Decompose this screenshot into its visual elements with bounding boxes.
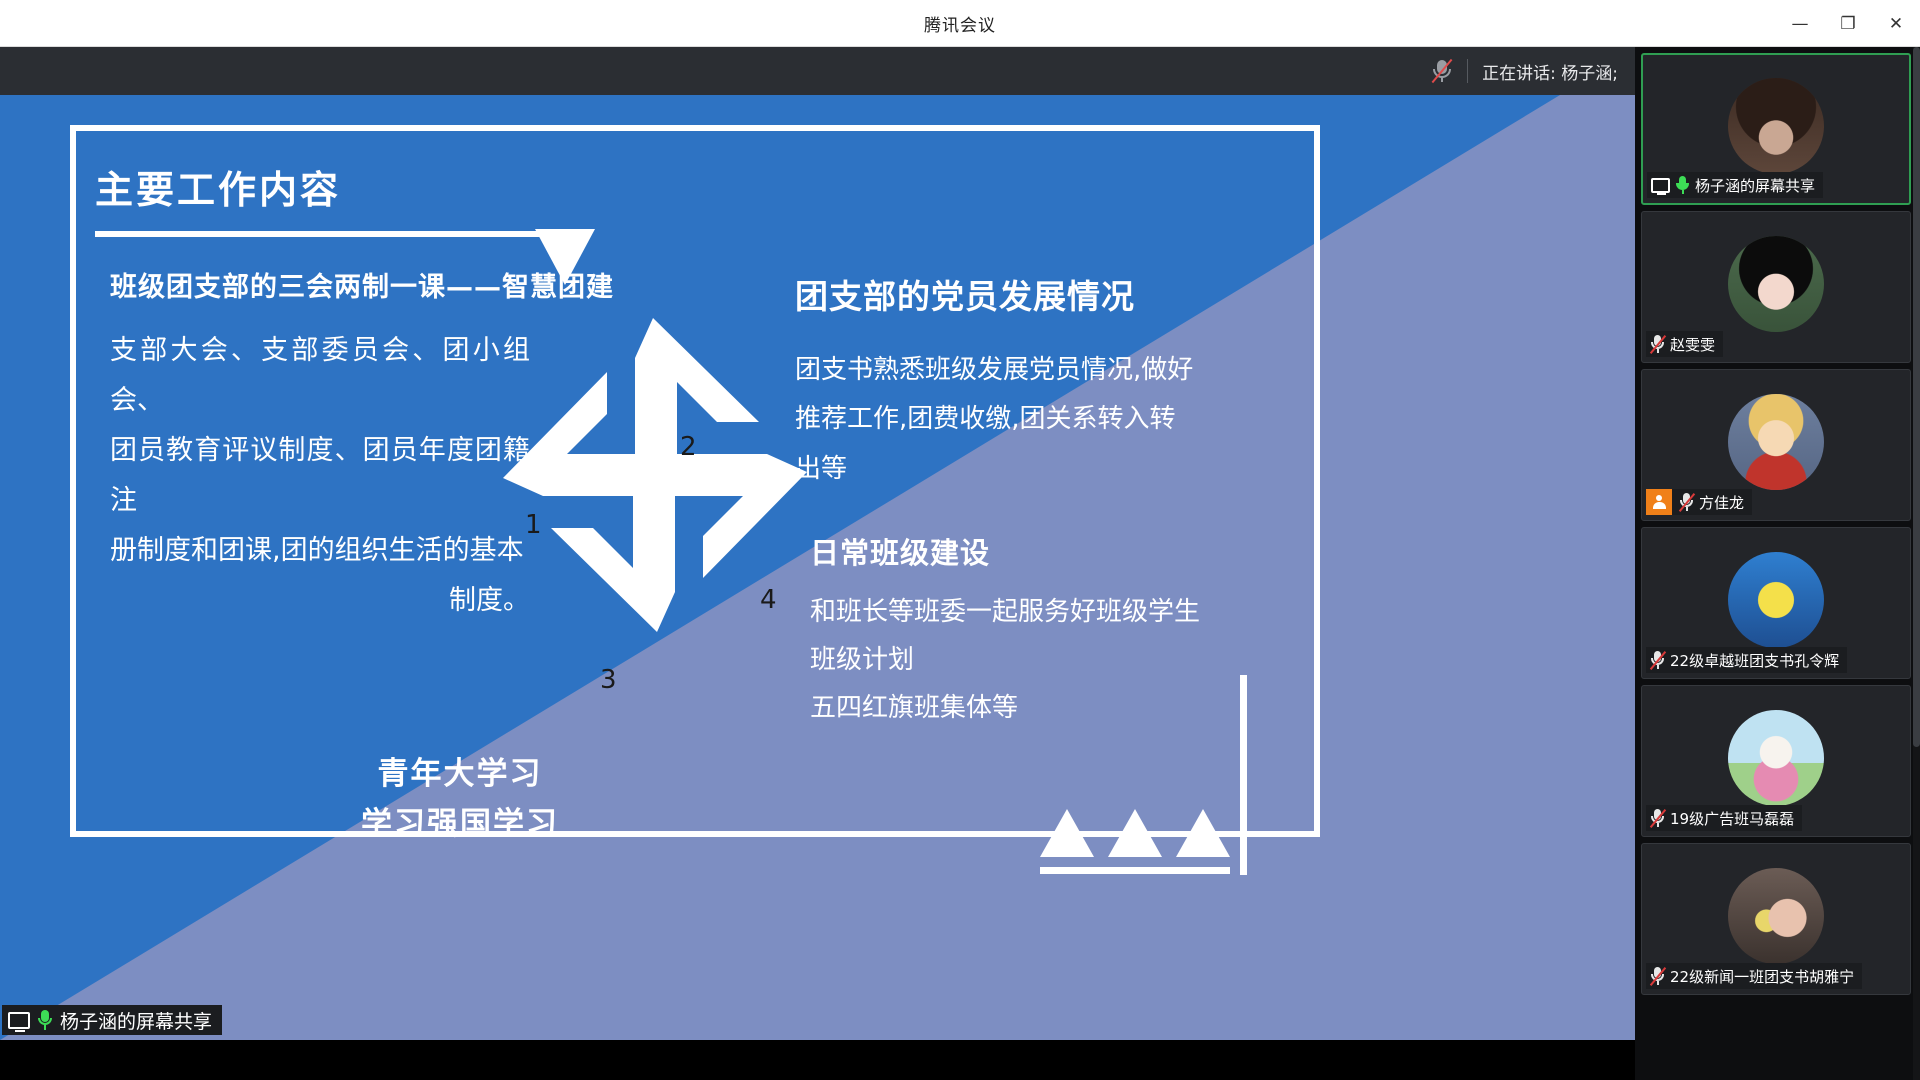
rail-scrollbar-thumb[interactable] xyxy=(1913,47,1920,747)
left-body-line-3: 册制度和团课,团的组织生活的基本 xyxy=(110,535,524,566)
avatar xyxy=(1728,710,1824,806)
left-body: 支部大会、支部委员会、团小组会、 团员教育评议制度、团员年度团籍注 册制度和团课… xyxy=(110,326,530,626)
pinwheel-number-3: 3 xyxy=(600,665,617,695)
right-bottom-heading: 日常班级建设 xyxy=(810,530,1230,572)
mic-muted-icon xyxy=(1650,651,1665,670)
left-body-line-1: 支部大会、支部委员会、团小组会、 xyxy=(110,335,530,416)
participant-name-bar: 赵雯雯 xyxy=(1646,331,1723,357)
avatar xyxy=(1728,394,1824,490)
avatar xyxy=(1728,78,1824,174)
page-title: 主要工作内容 xyxy=(95,167,585,215)
mic-muted-icon xyxy=(1650,809,1665,828)
shared-screen-area[interactable]: 主要工作内容 班级团支部的三会两制一课——智慧团建 支部大会、支部委员会、团小组… xyxy=(0,95,1635,1040)
left-bottom-block: 青年大学习 学习强国学习 xyxy=(245,750,675,849)
left-content-block: 班级团支部的三会两制一课——智慧团建 支部大会、支部委员会、团小组会、 团员教育… xyxy=(110,265,530,626)
speaking-indicator: 正在讲话: 杨子涵; xyxy=(1431,47,1622,95)
left-bottom-line-1: 青年大学习 xyxy=(245,750,675,800)
rail-scrollbar-track[interactable] xyxy=(1913,47,1920,1080)
triangle-decoration-group xyxy=(1040,809,1230,861)
participant-name-bar: 杨子涵的屏幕共享 xyxy=(1647,172,1823,198)
pinwheel-number-1: 1 xyxy=(525,510,542,540)
screen-share-icon xyxy=(8,1012,30,1029)
pinwheel-diagram: 1 2 3 4 xyxy=(495,310,815,640)
mic-muted-icon xyxy=(1431,58,1453,84)
screen-share-label: 杨子涵的屏幕共享 xyxy=(60,1007,212,1034)
avatar xyxy=(1728,868,1824,964)
slide-heading-block: 主要工作内容 xyxy=(95,167,585,237)
mic-muted-icon xyxy=(1650,967,1665,986)
left-subheading: 班级团支部的三会两制一课——智慧团建 xyxy=(110,265,530,304)
participant-tile[interactable]: 赵雯雯 xyxy=(1641,211,1911,363)
participant-tile[interactable]: 22级卓越班团支书孔令辉 xyxy=(1641,527,1911,679)
left-body-line-2: 团员教育评议制度、团员年度团籍注 xyxy=(110,435,530,516)
triangle-up-icon xyxy=(1176,809,1230,857)
mic-on-icon xyxy=(37,1010,53,1031)
right-top-body: 团支书熟悉班级发展党员情况,做好 推荐工作,团费收缴,团关系转入转 出等 xyxy=(795,346,1235,494)
screen-share-icon xyxy=(1651,178,1670,193)
right-bottom-block: 日常班级建设 和班长等班委一起服务好班级学生 班级计划 五四红旗班集体等 xyxy=(810,530,1230,732)
participant-name: 22级卓越班团支书孔令辉 xyxy=(1670,650,1839,671)
right-top-line-1: 团支书熟悉班级发展党员情况,做好 xyxy=(795,355,1193,385)
participant-name-bar: 19级广告班马磊磊 xyxy=(1646,805,1802,831)
participant-rail[interactable]: 杨子涵的屏幕共享赵雯雯方佳龙22级卓越班团支书孔令辉19级广告班马磊磊22级新闻… xyxy=(1635,47,1920,1080)
title-bar: 腾讯会议 — ❐ ✕ xyxy=(0,0,1920,47)
divider xyxy=(1467,59,1468,83)
right-bottom-line-3: 五四红旗班集体等 xyxy=(810,693,1018,723)
speaking-label: 正在讲话: 杨子涵; xyxy=(1482,59,1618,84)
left-bottom-line-2: 学习强国学习 xyxy=(245,800,675,850)
pinwheel-number-4: 4 xyxy=(760,585,777,615)
maximize-button[interactable]: ❐ xyxy=(1824,0,1872,47)
avatar xyxy=(1728,236,1824,332)
participant-name: 22级新闻一班团支书胡雅宁 xyxy=(1670,966,1854,987)
tencent-meeting-window: 腾讯会议 — ❐ ✕ 正在讲话: 杨子涵; 主要工作内容 xyxy=(0,0,1920,1080)
pinwheel-number-2: 2 xyxy=(680,432,697,462)
triangle-up-icon xyxy=(1040,809,1094,857)
meeting-top-bar: 正在讲话: 杨子涵; xyxy=(0,47,1920,95)
window-controls: — ❐ ✕ xyxy=(1776,0,1920,47)
participant-tile[interactable]: 杨子涵的屏幕共享 xyxy=(1641,53,1911,205)
host-badge-icon xyxy=(1646,489,1672,515)
right-bottom-body: 和班长等班委一起服务好班级学生 班级计划 五四红旗班集体等 xyxy=(810,588,1230,732)
participant-name: 赵雯雯 xyxy=(1670,334,1715,355)
mic-on-icon xyxy=(1675,176,1690,195)
avatar xyxy=(1728,552,1824,648)
presentation-slide: 主要工作内容 班级团支部的三会两制一课——智慧团建 支部大会、支部委员会、团小组… xyxy=(0,95,1635,1040)
right-bottom-line-2: 班级计划 xyxy=(810,645,914,675)
mic-muted-icon xyxy=(1650,335,1665,354)
vertical-rule xyxy=(1240,675,1247,875)
participant-tile[interactable]: 方佳龙 xyxy=(1641,369,1911,521)
minimize-button[interactable]: — xyxy=(1776,0,1824,47)
participant-name: 19级广告班马磊磊 xyxy=(1670,808,1794,829)
screen-share-badge: 杨子涵的屏幕共享 xyxy=(2,1005,222,1035)
right-bottom-line-1: 和班长等班委一起服务好班级学生 xyxy=(810,597,1200,627)
close-button[interactable]: ✕ xyxy=(1872,0,1920,47)
right-top-line-2: 推荐工作,团费收缴,团关系转入转 xyxy=(795,404,1176,434)
window-title: 腾讯会议 xyxy=(924,11,996,36)
left-body-line-4: 制度。 xyxy=(110,576,530,626)
right-top-heading: 团支部的党员发展情况 xyxy=(795,270,1235,318)
participant-name-bar: 方佳龙 xyxy=(1646,489,1752,515)
participant-name: 方佳龙 xyxy=(1699,492,1744,513)
triangle-underline xyxy=(1040,867,1230,874)
participant-name-bar: 22级新闻一班团支书胡雅宁 xyxy=(1646,963,1862,989)
triangle-up-icon xyxy=(1108,809,1162,857)
participant-name-bar: 22级卓越班团支书孔令辉 xyxy=(1646,647,1847,673)
participant-name: 杨子涵的屏幕共享 xyxy=(1695,175,1815,196)
participant-tile[interactable]: 22级新闻一班团支书胡雅宁 xyxy=(1641,843,1911,995)
right-top-block: 团支部的党员发展情况 团支书熟悉班级发展党员情况,做好 推荐工作,团费收缴,团关… xyxy=(795,270,1235,494)
heading-underline xyxy=(95,231,575,237)
participant-tile[interactable]: 19级广告班马磊磊 xyxy=(1641,685,1911,837)
mic-muted-icon xyxy=(1679,493,1694,512)
slide-border-right xyxy=(1314,125,1320,837)
